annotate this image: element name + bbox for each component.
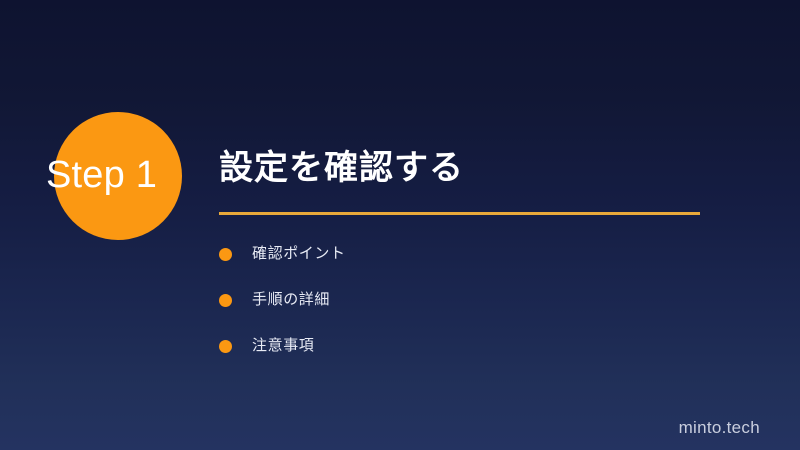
list-item: 確認ポイント (219, 231, 699, 277)
slide-canvas: Step 1 設定を確認する 確認ポイント 手順の詳細 注意事項 minto.t… (0, 0, 800, 450)
list-item: 手順の詳細 (219, 277, 699, 323)
title-divider (219, 212, 700, 215)
step-badge-group: Step 1 (0, 0, 220, 450)
dot-icon (219, 340, 232, 353)
list-item-label: 注意事項 (252, 336, 314, 356)
dot-icon (219, 248, 232, 261)
page-title: 設定を確認する (219, 146, 719, 190)
footer-watermark: minto.tech (679, 418, 760, 438)
bullet-list: 確認ポイント 手順の詳細 注意事項 (219, 231, 699, 369)
step-number-label: Step 1 (46, 152, 226, 200)
list-item-label: 手順の詳細 (252, 290, 330, 310)
list-item: 注意事項 (219, 323, 699, 369)
dot-icon (219, 294, 232, 307)
list-item-label: 確認ポイント (252, 244, 346, 264)
title-block: 設定を確認する (219, 146, 719, 190)
